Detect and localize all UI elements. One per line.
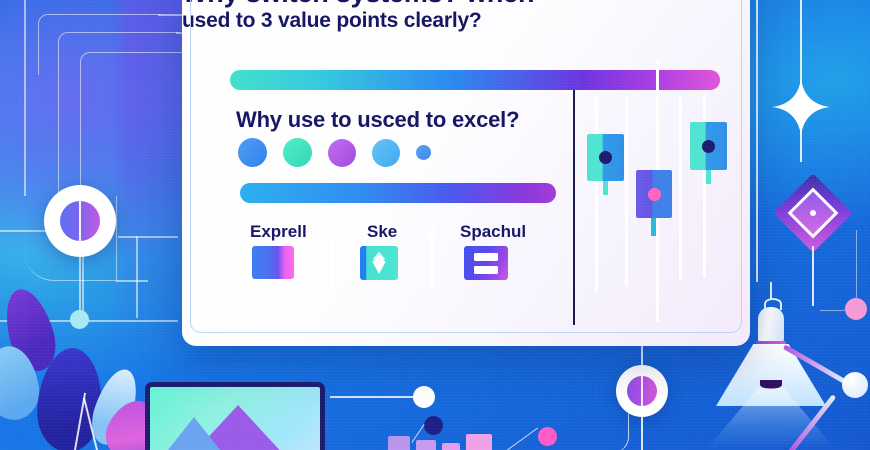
list-row-bar-1 (474, 253, 498, 261)
dot-small-blue[interactable] (416, 145, 431, 160)
chart-panel (573, 90, 743, 326)
chip-dot-pink (648, 188, 661, 201)
chip-teal-blue-2[interactable] (690, 122, 727, 170)
pink-dot-node (845, 298, 867, 320)
target-circle-bottom (616, 365, 668, 417)
gridline-4 (679, 96, 682, 280)
target-circle-left (44, 185, 116, 257)
icon-label-exprell: Exprell (250, 222, 307, 242)
dot-teal[interactable] (283, 138, 312, 167)
list-rows-icon[interactable] (464, 246, 508, 280)
section-heading: Why use to usced to excel? (236, 107, 519, 133)
chip-dot-navy (599, 151, 612, 164)
icon-label-spachul: Spachul (460, 222, 526, 242)
up-arrow-1 (324, 226, 338, 288)
content-card: Why switch systems? when used to 3 value… (182, 0, 750, 346)
mountain-shape-back (164, 417, 224, 450)
square-lilac-1 (388, 436, 410, 450)
lamp-bulb (760, 380, 782, 389)
square-lilac-2 (416, 440, 436, 450)
list-row-bar-2 (474, 266, 498, 274)
dot-row (238, 138, 431, 167)
gradient-block-icon[interactable] (252, 246, 294, 279)
illustration-canvas: Why switch systems? when used to 3 value… (0, 0, 870, 450)
gradient-progress-bar-top[interactable] (230, 70, 720, 90)
chip-purple-blue[interactable] (636, 170, 672, 218)
chip-tail-2 (651, 218, 656, 236)
up-arrow-2 (425, 226, 439, 288)
sparkle-icon (772, 78, 830, 136)
chip-tail-1 (603, 181, 608, 195)
icon-label-ske: Ske (367, 222, 397, 242)
lamp-joint-node (842, 372, 868, 398)
gradient-progress-bar-mid[interactable] (240, 183, 556, 203)
circuit-node-teal (70, 310, 89, 329)
page-title-line1: Why switch systems? when (182, 0, 750, 9)
chip-teal-blue[interactable] (587, 134, 624, 181)
chip-dot-navy-2 (702, 140, 715, 153)
lamp-body (758, 307, 784, 343)
dot-purple[interactable] (328, 139, 356, 167)
download-arrow-icon[interactable] (360, 246, 398, 280)
gridline-1 (595, 96, 598, 292)
laptop-illustration (145, 382, 325, 450)
gridline-2 (625, 96, 628, 286)
dot-skyblue[interactable] (372, 139, 400, 167)
chip-tail-3 (706, 170, 711, 184)
page-title-line2: used to 3 value points clearly? (182, 9, 750, 33)
dot-blue[interactable] (238, 138, 267, 167)
